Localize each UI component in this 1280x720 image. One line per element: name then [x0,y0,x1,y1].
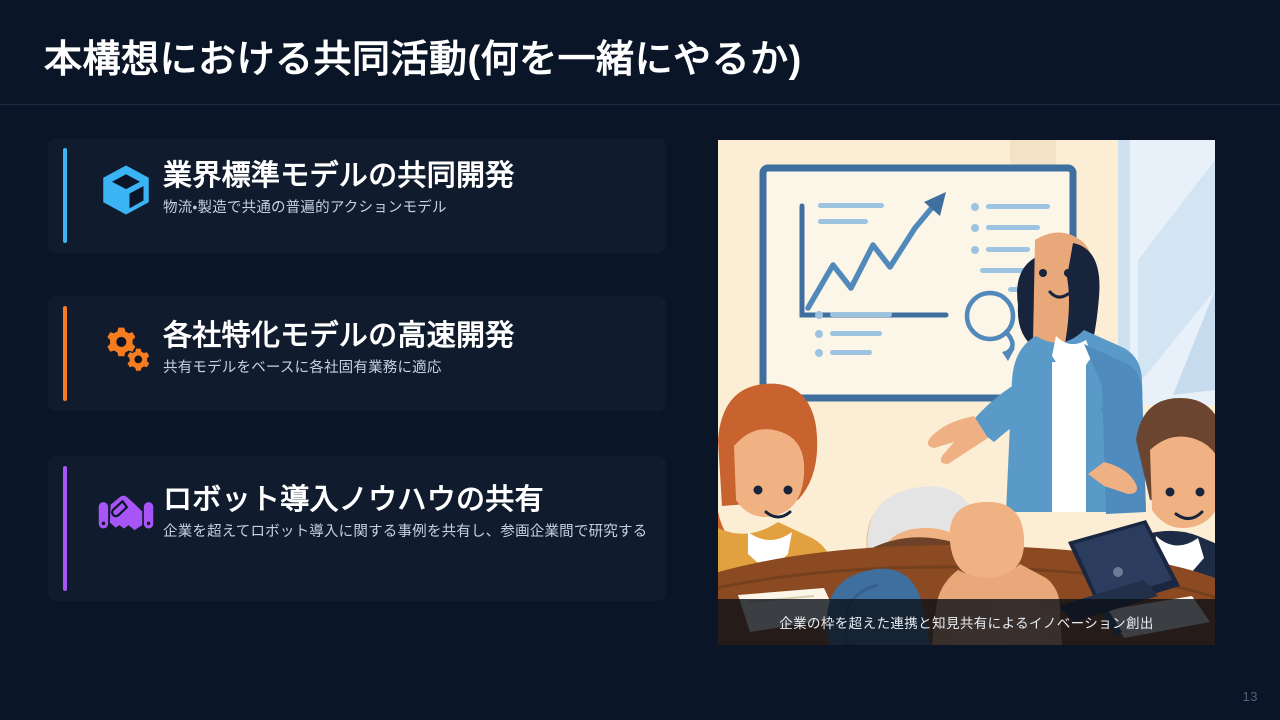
figure-caption: 企業の枠を超えた連携と知見共有によるイノベーション創出 [779,612,1154,632]
activity-card-subtitle: 企業を超えてロボット導入に関する事例を共有し、参画企業間で研究する [163,522,649,543]
activity-card-title: ロボット導入ノウハウの共有 [163,484,652,517]
slide: 本構想における共同活動(何を一緒にやるか) 業界標準モデルの共同開発 物流・製造… [0,0,1280,720]
accent-bar [63,148,67,243]
page-title: 本構想における共同活動(何を一緒にやるか) [44,28,802,83]
accent-bar [63,306,67,401]
figure-caption-bar: 企業の枠を超えた連携と知見共有によるイノベーション創出 [718,599,1215,645]
activity-card[interactable]: ロボット導入ノウハウの共有 企業を超えてロボット導入に関する事例を共有し、参画企… [48,456,666,601]
activity-card-title: 各社特化モデルの高速開発 [163,320,652,353]
activity-card-title: 業界標準モデルの共同開発 [163,160,652,193]
cube-icon [96,160,156,220]
accent-bar [63,466,67,591]
activity-card[interactable]: 各社特化モデルの高速開発 共有モデルをベースに各社固有業務に適応 [48,296,666,411]
handshake-icon [96,484,156,544]
activity-card-text: 業界標準モデルの共同開発 物流・製造で共通の普遍的アクションモデル [163,160,652,219]
activity-card-subtitle: 共有モデルをベースに各社固有業務に適応 [163,358,652,379]
activity-card-subtitle: 物流・製造で共通の普遍的アクションモデル [163,198,652,219]
business-meeting-illustration: 企業の枠を超えた連携と知見共有によるイノベーション創出 [718,140,1215,645]
slide-header: 本構想における共同活動(何を一緒にやるか) [0,0,1280,105]
activity-card-text: ロボット導入ノウハウの共有 企業を超えてロボット導入に関する事例を共有し、参画企… [163,484,652,543]
activity-card[interactable]: 業界標準モデルの共同開発 物流・製造で共通の普遍的アクションモデル [48,138,666,253]
page-number: 13 [1243,689,1258,704]
activity-card-list: 業界標準モデルの共同開発 物流・製造で共通の普遍的アクションモデル 各社特化モデ… [48,138,668,613]
gears-icon [96,320,156,380]
activity-card-text: 各社特化モデルの高速開発 共有モデルをベースに各社固有業務に適応 [163,320,652,379]
